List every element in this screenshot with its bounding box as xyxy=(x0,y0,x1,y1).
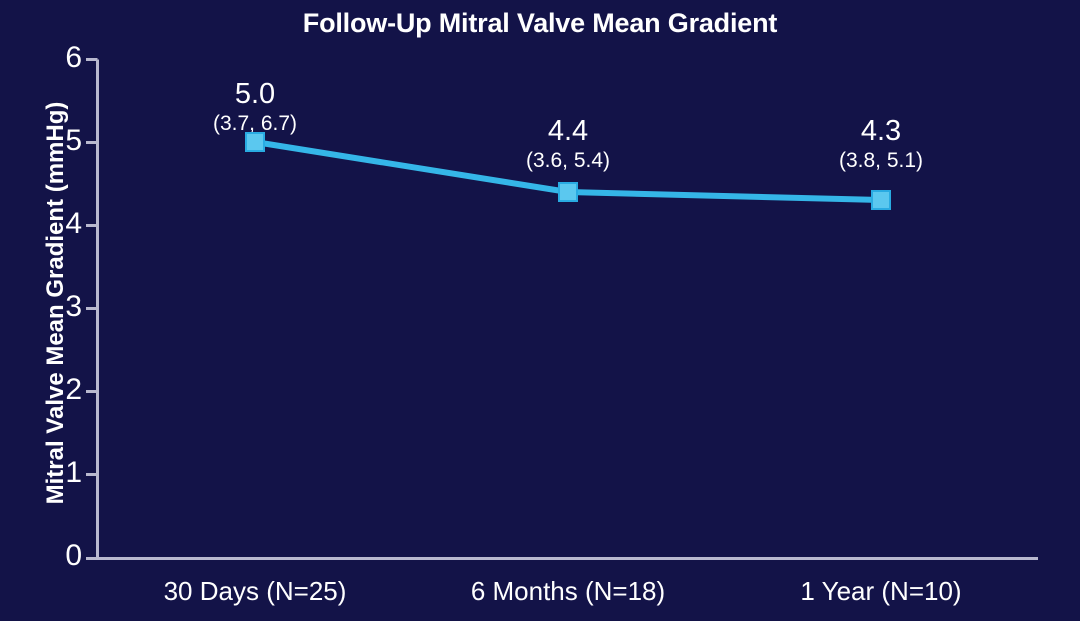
chart-canvas xyxy=(97,59,1042,561)
x-tick-label-30-days: 30 Days (N=25) xyxy=(164,576,347,607)
y-tick-label-4: 4 xyxy=(40,207,82,241)
page-title: Follow-Up Mitral Valve Mean Gradient xyxy=(0,8,1080,39)
y-tick-label-0: 0 xyxy=(40,539,82,573)
y-tick-label-6: 6 xyxy=(40,41,82,75)
data-marker-1-year[interactable] xyxy=(872,191,890,209)
y-tick-label-1: 1 xyxy=(40,456,82,490)
y-tick-label-3: 3 xyxy=(40,290,82,324)
y-tick-label-5: 5 xyxy=(40,124,82,158)
data-marker-30-days[interactable] xyxy=(246,133,264,151)
x-tick-label-1-year: 1 Year (N=10) xyxy=(800,576,961,607)
y-tick-label-2: 2 xyxy=(40,373,82,407)
chart-slide: Follow-Up Mitral Valve Mean Gradient Mit… xyxy=(0,0,1080,621)
x-tick-label-6-months: 6 Months (N=18) xyxy=(471,576,665,607)
y-tick-marks xyxy=(86,60,98,559)
plot-area xyxy=(97,59,1038,558)
data-marker-6-months[interactable] xyxy=(559,183,577,201)
